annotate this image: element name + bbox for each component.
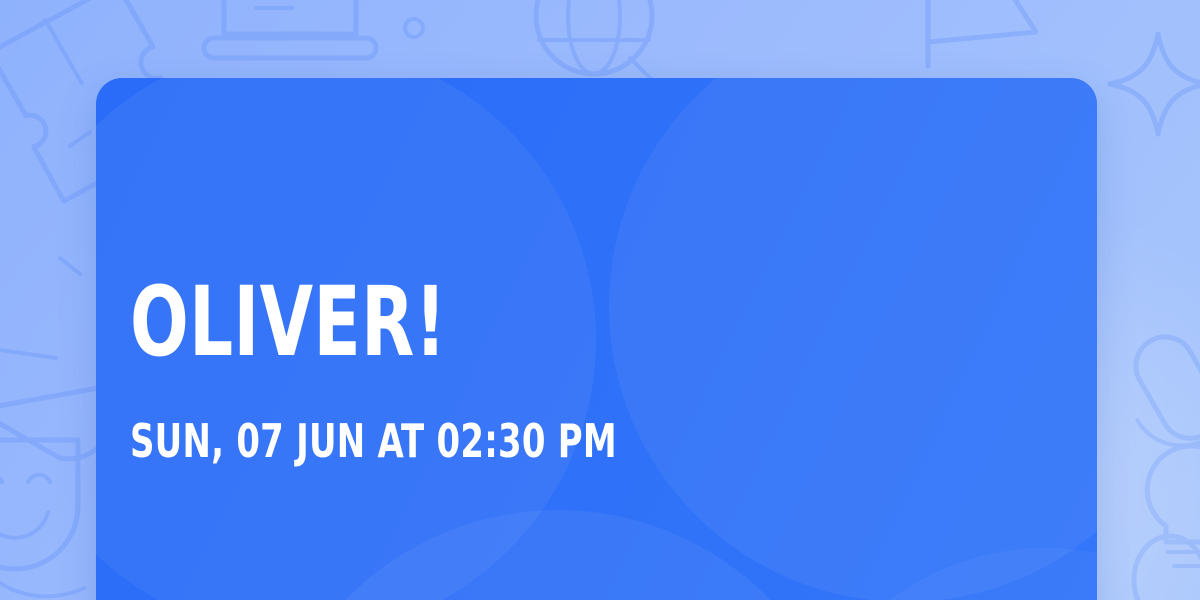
sparkle-icon bbox=[1110, 34, 1200, 134]
event-card[interactable]: OLIVER! SUN, 07 JUN AT 02:30 PM bbox=[96, 78, 1097, 600]
confetti-icon bbox=[405, 19, 423, 37]
event-card-content: OLIVER! SUN, 07 JUN AT 02:30 PM bbox=[130, 78, 1097, 600]
event-banner: OLIVER! SUN, 07 JUN AT 02:30 PM bbox=[0, 0, 1200, 600]
event-datetime: SUN, 07 JUN AT 02:30 PM bbox=[130, 418, 617, 464]
event-title: OLIVER! bbox=[130, 274, 447, 370]
flag-icon bbox=[928, 0, 1036, 66]
laptop-icon bbox=[204, 0, 376, 58]
theater-masks-icon bbox=[0, 388, 110, 569]
